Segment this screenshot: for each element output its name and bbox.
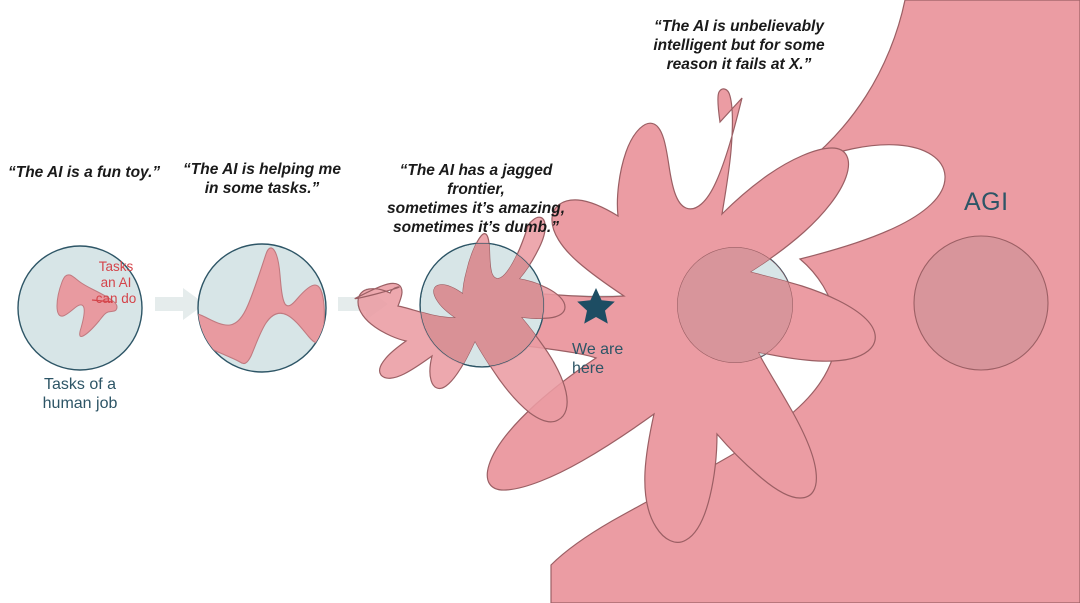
- jagged-frontier-diagram: “The AI is a fun toy.” “The AI is helpin…: [0, 0, 1080, 603]
- caption-stage-2: “The AI is helping me in some tasks.”: [180, 160, 344, 198]
- stage-5-circle-group: [914, 236, 1048, 370]
- stage-2-group: [184, 244, 326, 372]
- caption-stage-4: “The AI is unbelievably intelligent but …: [651, 17, 827, 74]
- diagram-canvas: [0, 0, 1080, 603]
- label-tasks-ai-can-do: Tasks an AI can do: [86, 259, 146, 307]
- caption-stage-3: “The AI has a jagged frontier, sometimes…: [371, 161, 581, 237]
- circle-human-job-5-overlay: [914, 236, 1048, 370]
- label-we-are-here: We are here: [572, 340, 652, 378]
- caption-stage-1: “The AI is a fun toy.”: [8, 163, 208, 182]
- label-agi: AGI: [964, 188, 1009, 217]
- label-tasks-human-job: Tasks of a human job: [13, 375, 147, 413]
